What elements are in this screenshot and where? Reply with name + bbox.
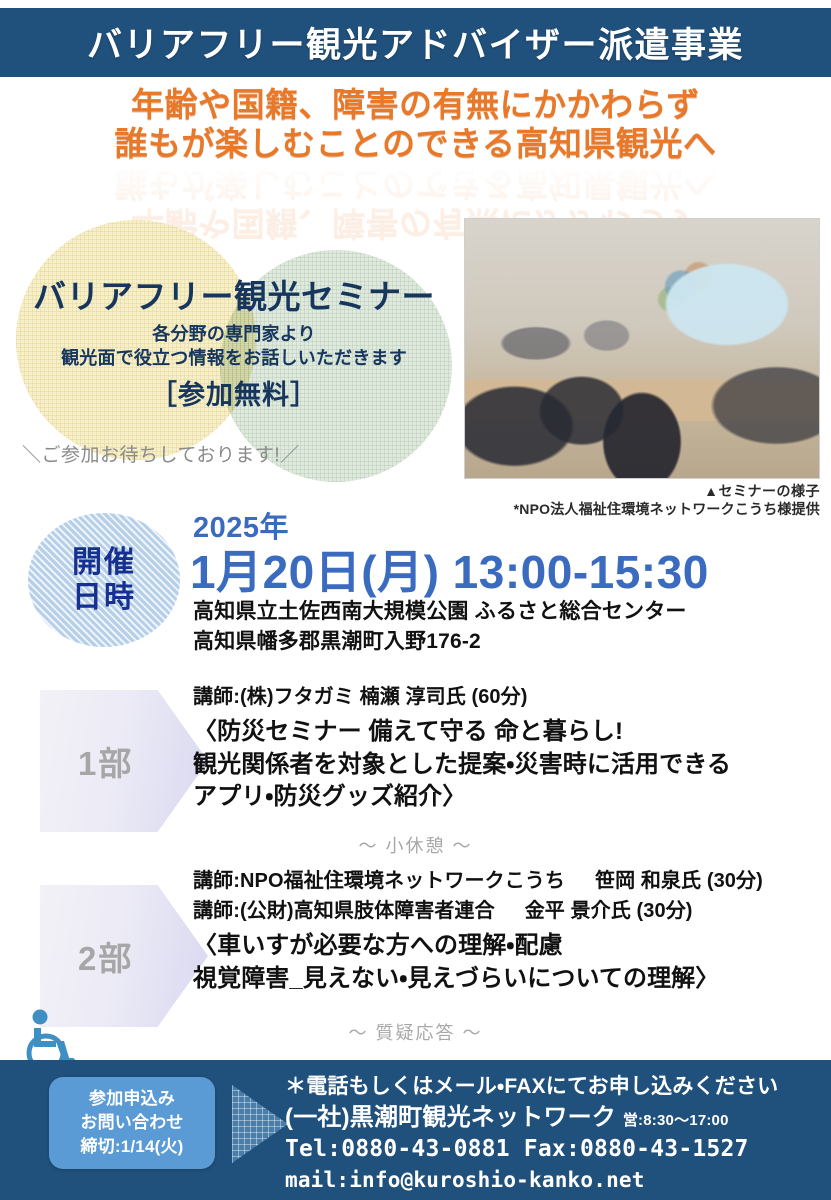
seminar-photo-image	[465, 219, 819, 478]
welcome-message: ＼ご参加お待ちしております!／	[22, 440, 300, 467]
apply-label-1: 参加申込み	[89, 1087, 175, 1111]
apply-deadline: 締切:1/14(火)	[80, 1135, 183, 1159]
contact-org: (一社)黒潮町観光ネットワーク 営:8:30～17:00	[285, 1102, 830, 1134]
part1-topic-line-3: アプリ・防災グッズ紹介〉	[193, 781, 731, 814]
venue-address: 高知県幡多郡黒潮町入野176-2	[193, 627, 687, 657]
part2-topic-line-2: 視覚障害_見えない・見えづらいについての理解〉	[193, 963, 763, 996]
contact-details: ＊電話もしくはメール・FAXにてお申し込みください (一社)黒潮町観光ネットワー…	[285, 1072, 830, 1195]
contact-mail: mail:info@kuroshio-kanko.net	[285, 1166, 830, 1195]
headline-reflection-line-2: 誰もが楽しむことのできる高知県観光へ	[0, 164, 831, 203]
part2-lecturer-2: 講師:(公財)高知県肢体障害者連合金平 景介氏 (30分)	[193, 896, 763, 926]
contact-tel-fax: Tel:0880-43-0881 Fax:0880-43-1527	[285, 1134, 830, 1166]
part2-arrow-badge: 2部	[40, 885, 208, 1027]
part1-content: 講師:(株)フタガミ 楠瀬 淳司氏 (60分) 〈防災セミナー 備えて守る 命と…	[193, 682, 731, 814]
part2-lecturer-1-name: 笹岡 和泉氏 (30分)	[565, 870, 763, 892]
event-datetime-badge: 開催 日時	[28, 513, 180, 647]
part2-topic-group: 〈車いすが必要な方への理解・配慮 視覚障害_見えない・見えづらいについての理解〉	[193, 930, 763, 995]
venue-name: 高知県立土佐西南大規模公園 ふるさと総合センター	[193, 597, 687, 627]
seminar-subtitle-2: 観光面で役立つ情報をお話しいただきます	[8, 346, 460, 370]
seminar-text-group: バリアフリー観光セミナー 各分野の専門家より 観光面で役立つ情報をお話しいただき…	[8, 270, 460, 412]
contact-hours: 営:8:30～17:00	[623, 1112, 729, 1129]
photo-caption: ▲セミナーの様子 *NPO法人福祉住環境ネットワークこうち様提供	[464, 482, 820, 519]
photo-caption-line-1: ▲セミナーの様子	[464, 482, 820, 500]
event-datetime-badge-line-2: 日時	[72, 580, 136, 615]
part1-label: 1部	[40, 737, 133, 785]
part1-topic-group: 〈防災セミナー 備えて守る 命と暮らし! 観光関係者を対象とした提案・災害時に活…	[193, 716, 731, 814]
part1-topic-line-1: 〈防災セミナー 備えて守る 命と暮らし!	[193, 716, 731, 749]
application-info-box: 参加申込み お問い合わせ 締切:1/14(火)	[49, 1077, 215, 1169]
part1-arrow-badge: 1部	[40, 690, 208, 832]
interlude-qa: ～ 質疑応答 ～	[0, 1019, 831, 1045]
part2-lecturer-1: 講師:NPO福祉住環境ネットワークこうち笹岡 和泉氏 (30分)	[193, 866, 763, 896]
part2-lecturer-2-org: 講師:(公財)高知県肢体障害者連合	[193, 900, 495, 922]
headline-line-2: 誰もが楽しむことのできる高知県観光へ	[0, 125, 831, 164]
part2-label: 2部	[40, 932, 133, 980]
part2-lecturer-1-org: 講師:NPO福祉住環境ネットワークこうち	[193, 870, 565, 892]
part2-topic-line-1: 〈車いすが必要な方への理解・配慮	[193, 930, 763, 963]
page-title: バリアフリー観光アドバイザー派遣事業	[87, 17, 744, 68]
apply-label-2: お問い合わせ	[80, 1111, 183, 1135]
part2-lecturer-2-name: 金平 景介氏 (30分)	[495, 900, 693, 922]
photo-caption-line-2: *NPO法人福祉住環境ネットワークこうち様提供	[464, 500, 820, 518]
part1-lecturer: 講師:(株)フタガミ 楠瀬 淳司氏 (60分)	[193, 682, 731, 712]
event-datetime: 1月20日(月) 13:00-15:30	[190, 536, 709, 602]
part1-topic-line-2: 観光関係者を対象とした提案・災害時に活用できる	[193, 749, 731, 782]
seminar-title: バリアフリー観光セミナー	[8, 270, 460, 318]
headline: 年齢や国籍、障害の有無にかかわらず 誰もが楽しむことのできる高知県観光へ	[0, 86, 831, 164]
seminar-photo	[464, 218, 820, 479]
interlude-break: ～ 小休憩 ～	[0, 832, 831, 858]
event-datetime-badge-line-1: 開催	[72, 545, 136, 580]
flyer-page: バリアフリー観光アドバイザー派遣事業 年齢や国籍、障害の有無にかかわらず 誰もが…	[0, 0, 831, 1200]
contact-org-name: (一社)黒潮町観光ネットワーク	[285, 1104, 616, 1131]
headline-line-1: 年齢や国籍、障害の有無にかかわらず	[0, 86, 831, 125]
seminar-subtitle-1: 各分野の専門家より	[8, 322, 460, 346]
event-venue: 高知県立土佐西南大規模公園 ふるさと総合センター 高知県幡多郡黒潮町入野176-…	[193, 597, 687, 658]
part2-content: 講師:NPO福祉住環境ネットワークこうち笹岡 和泉氏 (30分) 講師:(公財)…	[193, 866, 763, 995]
header-banner: バリアフリー観光アドバイザー派遣事業	[0, 8, 831, 77]
free-admission-badge: ［参加無料］	[8, 373, 460, 412]
contact-note: ＊電話もしくはメール・FAXにてお申し込みください	[285, 1072, 830, 1102]
